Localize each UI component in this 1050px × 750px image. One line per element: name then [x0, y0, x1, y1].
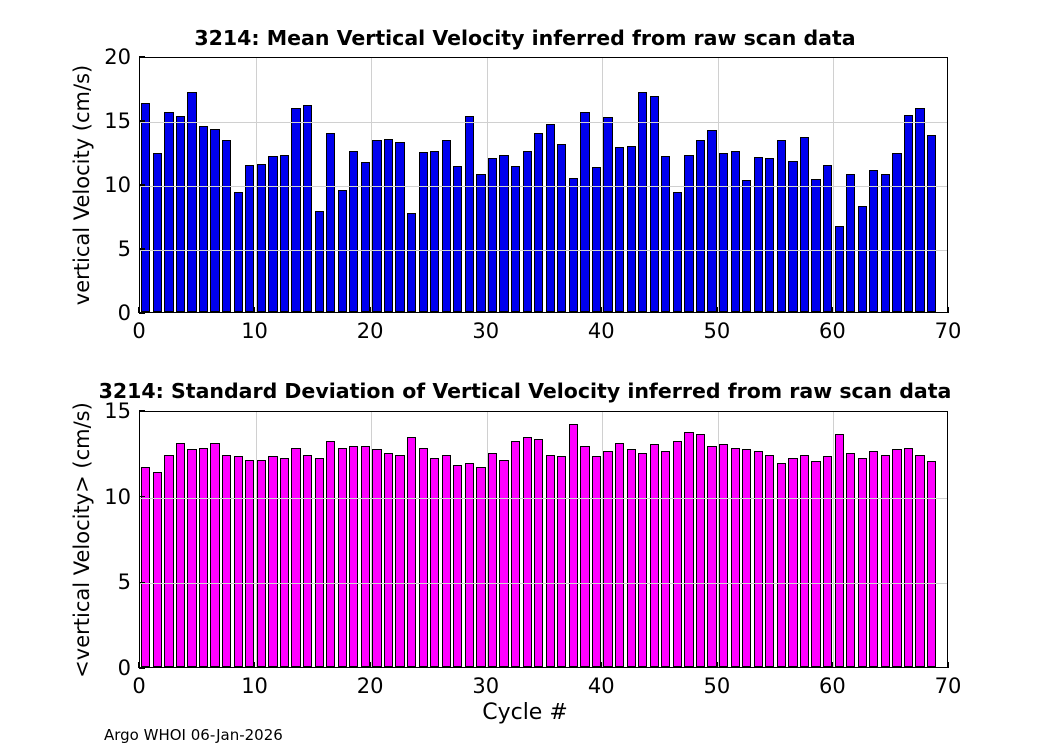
bar: [811, 179, 820, 312]
bar: [164, 112, 173, 312]
x-axis-tick-label: 10: [241, 674, 268, 698]
bar: [268, 156, 277, 312]
bar: [153, 153, 162, 312]
bar: [210, 129, 219, 312]
bar: [638, 453, 647, 667]
y-axis-tick: [139, 582, 145, 583]
bar: [915, 455, 924, 667]
gridline-horizontal: [140, 122, 947, 123]
gridline-vertical: [256, 412, 257, 667]
bar: [696, 140, 705, 312]
panel2-plot-area: [139, 411, 948, 668]
bar: [719, 444, 728, 667]
bar: [499, 155, 508, 312]
y-axis-tick-label: 0: [93, 301, 131, 325]
gridline-vertical: [718, 58, 719, 312]
bar: [234, 456, 243, 667]
bar: [707, 446, 716, 667]
bar: [627, 449, 636, 667]
bar: [361, 446, 370, 667]
gridline-vertical: [602, 58, 603, 312]
bar: [915, 108, 924, 312]
gridline-horizontal: [140, 250, 947, 251]
y-axis-tick-label: 5: [93, 237, 131, 261]
bar: [315, 458, 324, 667]
bar: [777, 140, 786, 312]
bar: [291, 108, 300, 312]
bar: [303, 455, 312, 667]
x-axis-tick-label: 70: [935, 319, 962, 343]
bar: [869, 170, 878, 312]
figure-canvas: 3214: Mean Vertical Velocity inferred fr…: [0, 0, 1050, 750]
gridline-horizontal: [140, 498, 947, 499]
bar: [499, 460, 508, 667]
bar: [534, 133, 543, 312]
bar: [742, 180, 751, 312]
bar: [303, 105, 312, 312]
gridline-vertical: [487, 412, 488, 667]
y-axis-tick: [139, 184, 145, 185]
bar: [234, 192, 243, 312]
bar: [557, 456, 566, 667]
bar: [765, 158, 774, 312]
bar: [904, 115, 913, 312]
x-axis-tick-label: 60: [819, 319, 846, 343]
x-axis-tick: [947, 307, 948, 313]
bar: [187, 449, 196, 667]
bar: [881, 174, 890, 312]
bar: [141, 103, 150, 312]
panel2-y-axis-label: <vertical Velocity> (cm/s): [70, 402, 94, 678]
bar: [199, 448, 208, 667]
x-axis-tick: [601, 307, 602, 313]
bar: [846, 174, 855, 312]
panel2-title: 3214: Standard Deviation of Vertical Vel…: [0, 379, 1050, 403]
y-axis-tick: [139, 410, 145, 411]
x-axis-tick-label: 40: [588, 674, 615, 698]
bar: [823, 456, 832, 667]
x-axis-tick-label: 0: [132, 319, 145, 343]
bar: [349, 151, 358, 312]
bar: [696, 434, 705, 667]
x-axis-tick: [832, 307, 833, 313]
bar: [765, 455, 774, 667]
panel2-bar-series: [140, 412, 947, 667]
bar: [315, 211, 324, 312]
bar: [546, 124, 555, 312]
bar: [326, 441, 335, 667]
bar: [580, 446, 589, 667]
bar: [927, 135, 936, 312]
x-axis-tick-label: 10: [241, 319, 268, 343]
bar: [569, 178, 578, 312]
bar: [846, 453, 855, 667]
x-axis-tick-label: 40: [588, 319, 615, 343]
bar: [419, 448, 428, 667]
x-axis-tick-label: 60: [819, 674, 846, 698]
panel1-title: 3214: Mean Vertical Velocity inferred fr…: [0, 26, 1050, 50]
bar: [800, 455, 809, 667]
y-axis-tick: [139, 312, 145, 313]
bar: [638, 92, 647, 312]
bar: [904, 448, 913, 667]
gridline-vertical: [371, 58, 372, 312]
bar: [557, 144, 566, 312]
x-axis-tick: [601, 662, 602, 668]
y-axis-tick-label: 15: [93, 399, 131, 423]
x-axis-tick: [254, 662, 255, 668]
bar: [661, 156, 670, 312]
bar: [338, 448, 347, 667]
bar: [488, 453, 497, 667]
bar: [511, 441, 520, 667]
bar: [684, 155, 693, 312]
bar: [811, 461, 820, 667]
bar: [835, 226, 844, 312]
gridline-vertical: [833, 412, 834, 667]
bar: [476, 174, 485, 312]
bar: [523, 437, 532, 667]
bar: [719, 153, 728, 312]
bar: [280, 458, 289, 667]
x-axis-tick: [369, 307, 370, 313]
x-axis-tick-label: 50: [703, 319, 730, 343]
bar: [384, 139, 393, 312]
figure-footer-credit: Argo WHOI 06-Jan-2026: [104, 726, 283, 744]
bar: [280, 155, 289, 312]
bar: [372, 449, 381, 667]
bar: [291, 448, 300, 667]
bar: [627, 146, 636, 312]
y-axis-tick-label: 0: [93, 656, 131, 680]
x-axis-tick: [485, 662, 486, 668]
bar: [603, 451, 612, 667]
panel1-bar-series: [140, 58, 947, 312]
bar: [835, 434, 844, 667]
bar: [268, 456, 277, 667]
bar: [869, 451, 878, 667]
bar: [465, 116, 474, 312]
gridline-vertical: [371, 412, 372, 667]
bar: [176, 116, 185, 312]
bar: [407, 213, 416, 312]
panel2-x-axis-label: Cycle #: [0, 700, 1050, 725]
bar: [222, 140, 231, 312]
y-axis-tick-label: 10: [93, 485, 131, 509]
bar: [881, 455, 890, 667]
panel1-plot-area: [139, 57, 948, 313]
bar: [453, 465, 462, 667]
bar: [580, 112, 589, 312]
bar: [465, 463, 474, 667]
panel1-y-axis-label: vertical Velocity (cm/s): [70, 65, 94, 305]
bar: [222, 455, 231, 667]
bar: [592, 167, 601, 312]
bar: [858, 458, 867, 667]
bar: [187, 92, 196, 312]
y-axis-tick: [139, 667, 145, 668]
bar: [661, 451, 670, 667]
bar: [603, 117, 612, 312]
bar: [210, 443, 219, 667]
bar: [546, 455, 555, 667]
bar: [372, 140, 381, 312]
bar: [673, 192, 682, 312]
bar: [615, 147, 624, 312]
bar: [788, 161, 797, 312]
gridline-horizontal: [140, 583, 947, 584]
bar: [384, 453, 393, 667]
bar: [361, 162, 370, 312]
y-axis-tick-label: 10: [93, 173, 131, 197]
x-axis-tick: [369, 662, 370, 668]
bar: [442, 140, 451, 312]
bar: [731, 448, 740, 667]
bar: [523, 151, 532, 312]
y-axis-tick: [139, 496, 145, 497]
bar: [927, 461, 936, 667]
bar: [731, 151, 740, 312]
y-axis-tick-label: 15: [93, 109, 131, 133]
bar: [858, 206, 867, 312]
bar: [395, 455, 404, 667]
bar: [754, 451, 763, 667]
y-axis-tick: [139, 248, 145, 249]
bar: [395, 142, 404, 312]
x-axis-tick: [716, 662, 717, 668]
bar: [257, 460, 266, 667]
x-axis-tick-label: 20: [357, 674, 384, 698]
bar: [164, 455, 173, 667]
bar: [684, 432, 693, 667]
bar: [788, 458, 797, 667]
gridline-vertical: [256, 58, 257, 312]
x-axis-tick: [716, 307, 717, 313]
bar: [615, 443, 624, 667]
bar: [442, 455, 451, 667]
bar: [430, 458, 439, 667]
y-axis-tick: [139, 120, 145, 121]
y-axis-tick-label: 5: [93, 570, 131, 594]
bar: [488, 158, 497, 312]
bar: [800, 137, 809, 312]
x-axis-tick-label: 30: [472, 674, 499, 698]
x-axis-tick-label: 30: [472, 319, 499, 343]
bar: [592, 456, 601, 667]
gridline-vertical: [718, 412, 719, 667]
gridline-vertical: [487, 58, 488, 312]
x-axis-tick-label: 0: [132, 674, 145, 698]
bar: [892, 153, 901, 312]
x-axis-tick-label: 20: [357, 319, 384, 343]
bar: [176, 443, 185, 667]
x-axis-tick-label: 50: [703, 674, 730, 698]
bar: [754, 157, 763, 312]
bar: [569, 424, 578, 667]
x-axis-tick: [947, 662, 948, 668]
bar: [707, 130, 716, 312]
bar: [407, 437, 416, 667]
bar: [511, 166, 520, 312]
bar: [650, 444, 659, 667]
bar: [245, 460, 254, 667]
bar: [153, 472, 162, 667]
gridline-vertical: [602, 412, 603, 667]
bar: [199, 126, 208, 312]
y-axis-tick: [139, 56, 145, 57]
bar: [476, 467, 485, 667]
bar: [534, 439, 543, 667]
bar: [349, 446, 358, 667]
x-axis-tick: [254, 307, 255, 313]
bar: [777, 463, 786, 667]
x-axis-tick: [832, 662, 833, 668]
bar: [430, 151, 439, 312]
bar: [419, 152, 428, 312]
bar: [326, 133, 335, 312]
x-axis-tick-label: 70: [935, 674, 962, 698]
bar: [338, 190, 347, 312]
gridline-vertical: [833, 58, 834, 312]
bar: [650, 96, 659, 312]
bar: [892, 449, 901, 667]
gridline-horizontal: [140, 186, 947, 187]
y-axis-tick-label: 20: [93, 45, 131, 69]
x-axis-tick: [485, 307, 486, 313]
bar: [673, 441, 682, 667]
bar: [742, 449, 751, 667]
bar: [453, 166, 462, 312]
